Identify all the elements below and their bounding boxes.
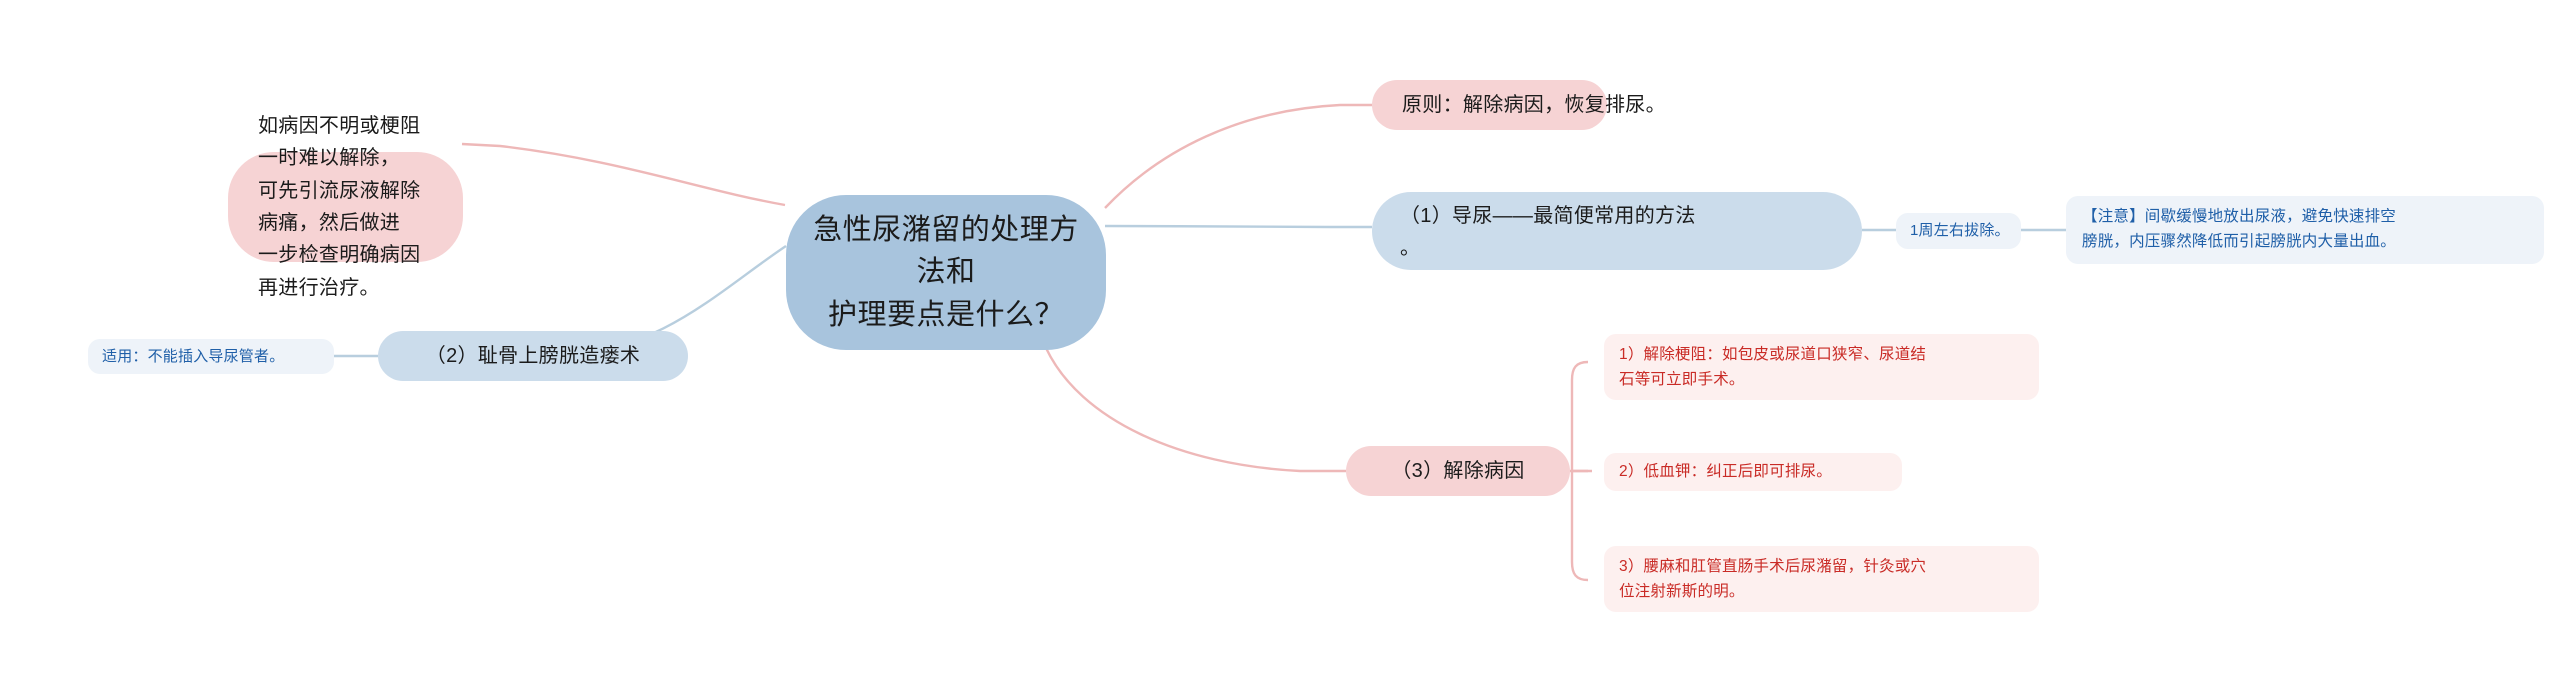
note-catheter-duration-label: 1周左右拔除。 bbox=[1910, 219, 2010, 242]
remove-cause-item-1-node[interactable]: 1）解除梗阻：如包皮或尿道口狭窄、尿道结 石等可立即手术。 bbox=[1604, 334, 2039, 400]
note-cystostomy-indication-node[interactable]: 适用：不能插入导尿管者。 bbox=[88, 339, 334, 374]
remove-cause-item-3-node[interactable]: 3）腰麻和肛管直肠手术后尿潴留，针灸或穴 位注射新斯的明。 bbox=[1604, 546, 2039, 612]
note-catheter-caution-node[interactable]: 【注意】间歇缓慢地放出尿液，避免快速排空 膀胱，内压骤然降低而引起膀胱内大量出血… bbox=[2066, 196, 2544, 264]
remove-cause-item-2-label: 2）低血钾：纠正后即可排尿。 bbox=[1619, 459, 1832, 484]
mindmap-canvas: 急性尿潴留的处理方法和 护理要点是什么？ 如病因不明或梗阻一时难以解除， 可先引… bbox=[0, 0, 2560, 683]
branch-principle-node[interactable]: 原则：解除病因，恢复排尿。 bbox=[1372, 80, 1607, 130]
branch-principle-label: 原则：解除病因，恢复排尿。 bbox=[1402, 89, 1666, 121]
connector-remove-cause-trunk bbox=[1572, 362, 1588, 580]
branch-remove-cause-node[interactable]: （3）解除病因 bbox=[1346, 446, 1570, 496]
branch-cystostomy-label: （2）耻骨上膀胱造瘘术 bbox=[426, 340, 640, 372]
remove-cause-item-3-label: 3）腰麻和肛管直肠手术后尿潴留，针灸或穴 位注射新斯的明。 bbox=[1619, 554, 1926, 604]
note-cystostomy-indication-label: 适用：不能插入导尿管者。 bbox=[102, 345, 284, 368]
central-topic-node[interactable]: 急性尿潴留的处理方法和 护理要点是什么？ bbox=[786, 195, 1106, 350]
branch-cause-unknown-node[interactable]: 如病因不明或梗阻一时难以解除， 可先引流尿液解除病痛，然后做进 一步检查明确病因… bbox=[228, 152, 463, 262]
connector-central-to-principle bbox=[1105, 105, 1372, 208]
connector-central-to-catheterization bbox=[1105, 226, 1372, 227]
connector-central-to-cause-unknown bbox=[462, 144, 785, 205]
branch-remove-cause-label: （3）解除病因 bbox=[1391, 455, 1524, 487]
note-catheter-duration-node[interactable]: 1周左右拔除。 bbox=[1896, 213, 2021, 249]
remove-cause-item-2-node[interactable]: 2）低血钾：纠正后即可排尿。 bbox=[1604, 453, 1902, 491]
branch-cystostomy-node[interactable]: （2）耻骨上膀胱造瘘术 bbox=[378, 331, 688, 381]
branch-catheterization-label: （1）导尿——最简便常用的方法 。 bbox=[1400, 200, 1696, 264]
branch-catheterization-node[interactable]: （1）导尿——最简便常用的方法 。 bbox=[1372, 192, 1862, 270]
central-topic-label: 急性尿潴留的处理方法和 护理要点是什么？ bbox=[812, 209, 1080, 335]
branch-cause-unknown-label: 如病因不明或梗阻一时难以解除， 可先引流尿液解除病痛，然后做进 一步检查明确病因… bbox=[258, 110, 433, 304]
note-catheter-caution-label: 【注意】间歇缓慢地放出尿液，避免快速排空 膀胱，内压骤然降低而引起膀胱内大量出血… bbox=[2082, 205, 2396, 255]
remove-cause-item-1-label: 1）解除梗阻：如包皮或尿道口狭窄、尿道结 石等可立即手术。 bbox=[1619, 342, 1926, 392]
connector-central-to-remove-cause bbox=[1046, 348, 1346, 471]
